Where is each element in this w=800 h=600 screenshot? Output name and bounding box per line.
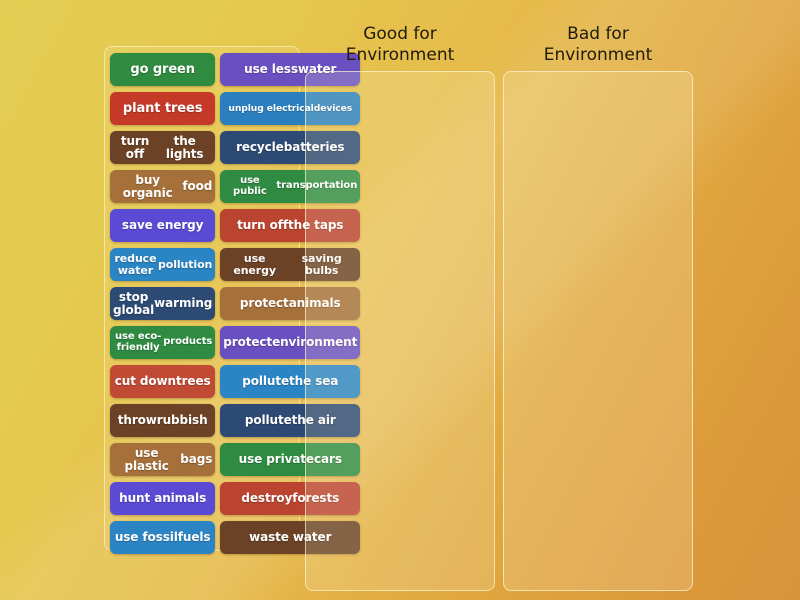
word-tile-use-fossil-fuels[interactable]: use fossilfuels (110, 521, 215, 554)
column-title-good-line2: Environment (305, 45, 495, 66)
column-title-good-line1: Good for (305, 24, 495, 45)
word-tile-throw-rubbish[interactable]: throwrubbish (110, 404, 215, 437)
word-tile-buy-organic-food[interactable]: buy organicfood (110, 170, 215, 203)
word-tile-label: pollute (245, 414, 292, 426)
word-tile-label: rubbish (157, 414, 208, 426)
dropzone-good[interactable] (305, 71, 495, 591)
word-tile-grid: go greenuse lesswaterplant treesunplug e… (110, 53, 294, 554)
word-tile-label: destroy (241, 492, 292, 504)
word-tile-label: food (182, 180, 212, 192)
word-tile-label: trees (176, 375, 211, 387)
word-tile-label: bags (180, 453, 212, 465)
word-tile-label: cut down (115, 375, 176, 387)
word-tile-tray: go greenuse lesswaterplant treesunplug e… (104, 46, 300, 551)
word-tile-label: use fossil (115, 531, 178, 543)
dropzone-bad[interactable] (503, 71, 693, 591)
column-title-good: Good for Environment (305, 24, 495, 65)
word-tile-label: plant trees (123, 102, 202, 115)
word-tile-use-eco-friendly-products[interactable]: use eco-friendlyproducts (110, 326, 215, 359)
word-tile-label: protect (240, 297, 289, 309)
word-tile-label: unplug electrical (228, 104, 313, 113)
word-tile-label: hunt animals (119, 492, 206, 504)
word-tile-reduce-water-pollution[interactable]: reduce waterpollution (110, 248, 215, 281)
word-tile-label: reduce water (113, 253, 158, 276)
word-tile-label: use energy (223, 253, 286, 276)
word-tile-label: stop global (113, 291, 154, 316)
word-tile-label: use less (244, 63, 298, 75)
word-tile-label: pollute (242, 375, 289, 387)
word-tile-label: use plastic (113, 447, 180, 472)
word-tile-label: the lights (157, 135, 212, 160)
activity-canvas: go greenuse lesswaterplant treesunplug e… (0, 0, 800, 600)
column-title-bad-line2: Environment (503, 45, 693, 66)
word-tile-label: protect (223, 336, 272, 348)
word-tile-label: fuels (178, 531, 211, 543)
word-tile-save-energy[interactable]: save energy (110, 209, 215, 242)
word-tile-use-plastic-bags[interactable]: use plasticbags (110, 443, 215, 476)
word-tile-label: turn off (113, 135, 157, 160)
drop-column-bad: Bad for Environment (503, 24, 693, 591)
column-title-bad: Bad for Environment (503, 24, 693, 65)
word-tile-hunt-animals[interactable]: hunt animals (110, 482, 215, 515)
word-tile-go-green[interactable]: go green (110, 53, 215, 86)
word-tile-label: turn off (237, 219, 288, 231)
word-tile-stop-global-warming[interactable]: stop globalwarming (110, 287, 215, 320)
word-tile-label: throw (118, 414, 157, 426)
drop-column-good: Good for Environment (305, 24, 495, 591)
column-title-bad-line1: Bad for (503, 24, 693, 45)
word-tile-label: use public (223, 176, 276, 197)
word-tile-label: pollution (158, 259, 212, 270)
word-tile-label: save energy (122, 219, 203, 231)
word-tile-label: go green (130, 63, 195, 76)
word-tile-label: products (163, 337, 212, 347)
word-tile-turn-off-the-lights[interactable]: turn offthe lights (110, 131, 215, 164)
word-tile-label: recycle (236, 141, 284, 153)
word-tile-label: buy organic (113, 174, 182, 199)
word-tile-label: warming (154, 297, 212, 309)
word-tile-label: use eco-friendly (113, 332, 163, 353)
word-tile-plant-trees[interactable]: plant trees (110, 92, 215, 125)
word-tile-label: use private (239, 453, 314, 465)
word-tile-cut-down-trees[interactable]: cut downtrees (110, 365, 215, 398)
